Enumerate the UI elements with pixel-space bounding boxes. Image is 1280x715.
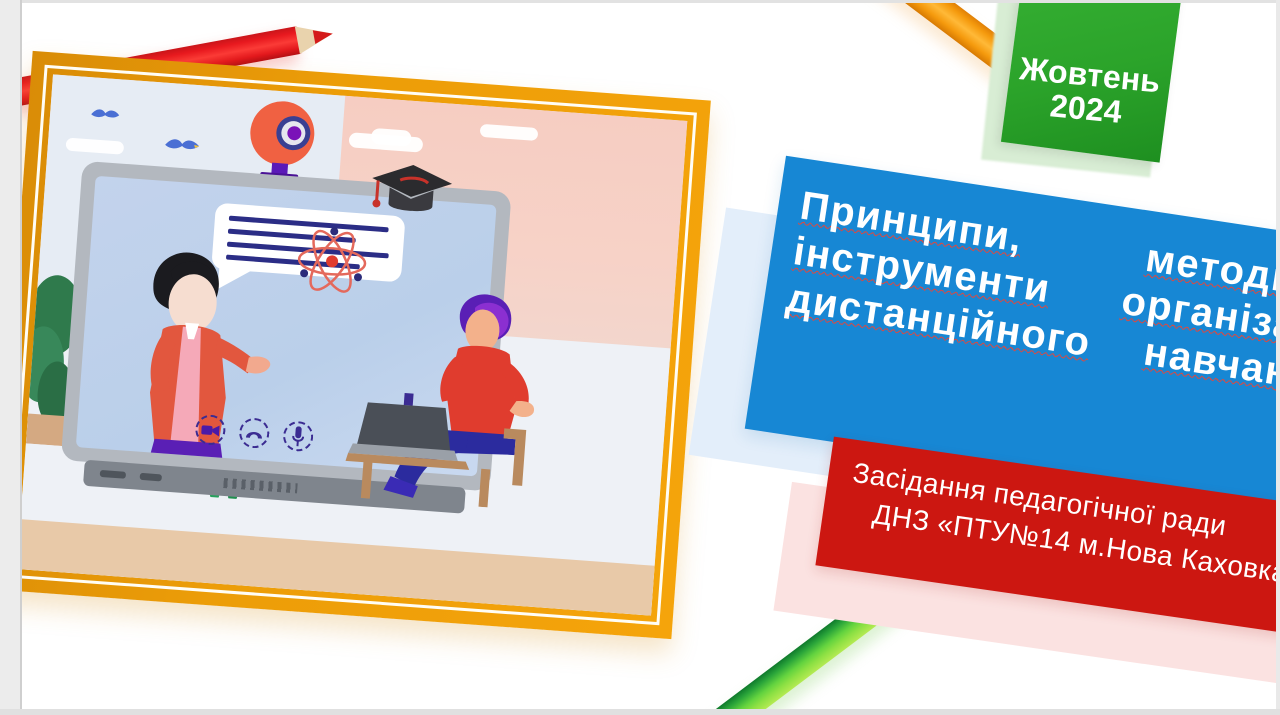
monitor-vents	[223, 478, 298, 493]
distance-learning-illustration	[22, 74, 687, 615]
student-figure	[343, 277, 569, 512]
monitor-button	[100, 470, 126, 479]
end-call-icon[interactable]	[238, 417, 270, 449]
cloud	[371, 128, 412, 147]
viewport-edge-top	[0, 0, 1280, 3]
graduation-cap-icon	[365, 160, 455, 224]
date-badge-year: 2024	[1048, 89, 1123, 130]
slide-viewport: Жовтень 2024 Принципи, методи та інструм…	[0, 0, 1280, 715]
viewport-edge-left	[0, 0, 20, 715]
photo-frame	[22, 51, 711, 639]
video-camera-icon[interactable]	[194, 414, 226, 446]
date-badge: Жовтень 2024	[1001, 3, 1183, 163]
microphone-icon[interactable]	[282, 420, 314, 452]
bird-icon	[164, 135, 201, 156]
slide-canvas: Жовтень 2024 Принципи, методи та інструм…	[22, 3, 1276, 709]
bird-icon	[90, 105, 121, 123]
monitor-button	[140, 473, 162, 482]
viewport-edge-left-line	[20, 0, 22, 715]
viewport-edge-bottom	[0, 709, 1280, 715]
viewport-edge-right	[1276, 0, 1280, 715]
